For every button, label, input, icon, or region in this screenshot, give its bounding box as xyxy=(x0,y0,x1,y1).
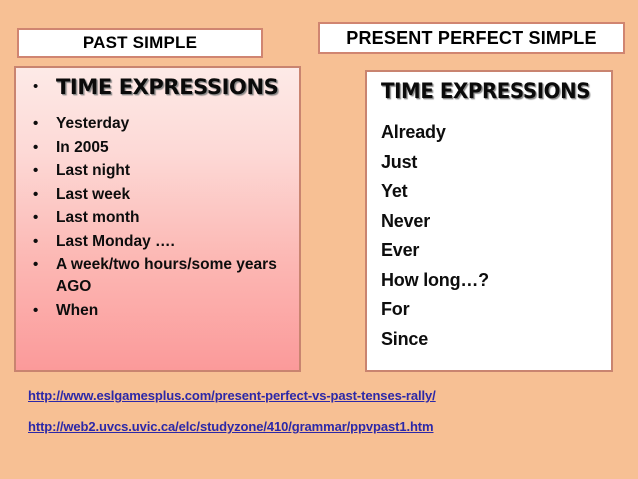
list-item: • Last Monday …. xyxy=(26,231,289,253)
list-item: • Yesterday xyxy=(26,113,289,135)
bullet-icon: • xyxy=(33,113,38,135)
past-time-expressions-list: • Yesterday • In 2005 • Last night • Las… xyxy=(26,113,289,322)
list-item: • In 2005 xyxy=(26,137,289,159)
title-past-simple-label: PAST SIMPLE xyxy=(83,33,197,53)
list-item: How long…? xyxy=(381,266,611,296)
bullet-icon: • xyxy=(33,254,38,276)
list-item: • A week/two hours/some years AGO xyxy=(26,254,289,298)
present-time-expressions-heading: TIME EXPRESSIONS xyxy=(381,80,597,102)
list-item: For xyxy=(381,295,611,325)
list-item: • Last night xyxy=(26,160,289,182)
bullet-icon: • xyxy=(33,207,38,229)
list-item-label: Last night xyxy=(56,162,130,179)
bullet-icon: • xyxy=(33,184,38,206)
list-item: Never xyxy=(381,207,611,237)
bullet-icon: • xyxy=(33,231,38,253)
reference-link-eslgamesplus[interactable]: http://www.eslgamesplus.com/present-perf… xyxy=(28,388,436,403)
title-present-perfect-simple-label: PRESENT PERFECT SIMPLE xyxy=(346,28,596,49)
bullet-icon: • xyxy=(33,160,38,182)
list-item: • Last week xyxy=(26,184,289,206)
list-item-label: Yesterday xyxy=(56,115,129,132)
list-item-label: Last week xyxy=(56,186,130,203)
list-item-label: Last month xyxy=(56,209,140,226)
list-item: Ever xyxy=(381,236,611,266)
list-item-label: A week/two hours/some years AGO xyxy=(56,256,277,295)
list-item: • Last month xyxy=(26,207,289,229)
bullet-icon: • xyxy=(33,76,38,98)
list-item: Already xyxy=(381,118,611,148)
list-item-label: Last Monday …. xyxy=(56,233,175,250)
list-item: Just xyxy=(381,148,611,178)
reference-link-uvic-studyzone[interactable]: http://web2.uvcs.uvic.ca/elc/studyzone/4… xyxy=(28,419,434,434)
past-heading-row: • TIME EXPRESSIONS xyxy=(26,76,289,99)
list-item: Since xyxy=(381,325,611,355)
list-item-label: In 2005 xyxy=(56,139,109,156)
title-box-past-simple: PAST SIMPLE xyxy=(17,28,263,58)
list-item: Yet xyxy=(381,177,611,207)
content-box-present-perfect-simple: TIME EXPRESSIONS Already Just Yet Never … xyxy=(365,70,613,372)
bullet-icon: • xyxy=(33,137,38,159)
title-box-present-perfect-simple: PRESENT PERFECT SIMPLE xyxy=(318,22,625,54)
list-item: • When xyxy=(26,300,289,322)
past-time-expressions-heading: TIME EXPRESSIONS xyxy=(56,75,278,99)
bullet-icon: • xyxy=(33,300,38,322)
list-item-label: When xyxy=(56,302,98,319)
content-box-past-simple: • TIME EXPRESSIONS • Yesterday • In 2005… xyxy=(14,66,301,372)
present-time-expressions-list: Already Just Yet Never Ever How long…? F… xyxy=(381,118,611,354)
